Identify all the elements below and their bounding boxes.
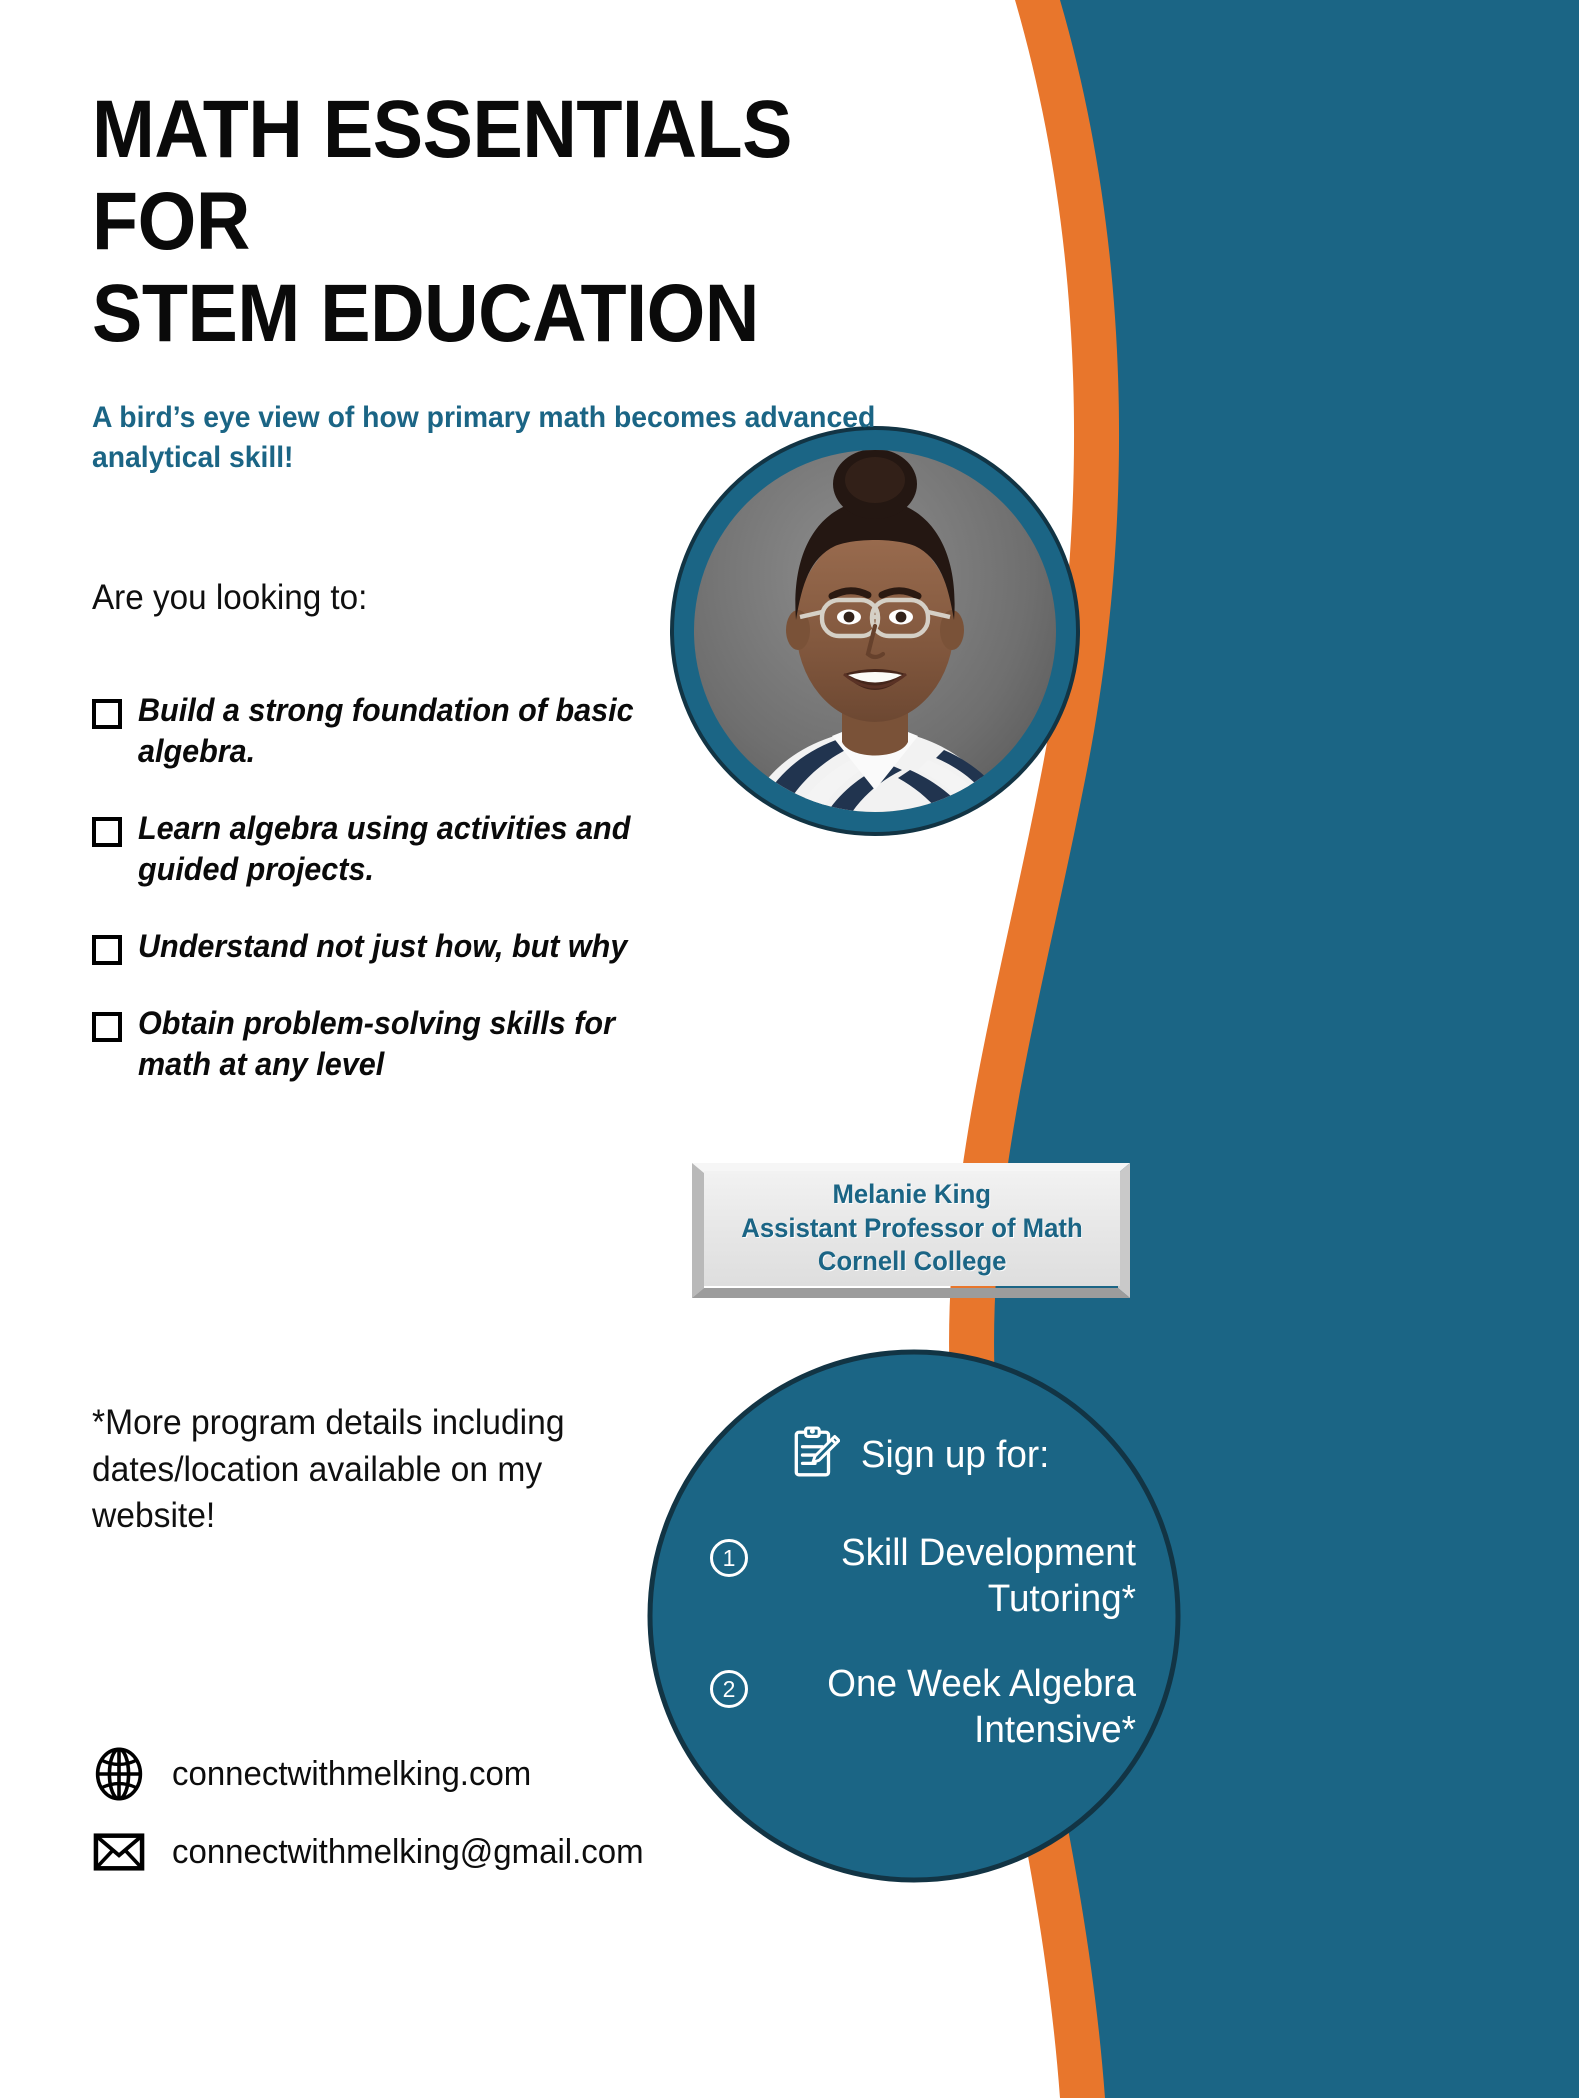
signup-option-label: One Week Algebra Intensive* <box>775 1662 1136 1753</box>
signup-option-1[interactable]: 1 Skill Development Tutoring* <box>686 1531 1156 1622</box>
presenter-institution: Cornell College <box>818 1245 1007 1278</box>
globe-icon <box>92 1747 146 1801</box>
checkbox-icon <box>92 817 122 847</box>
lead-in-text: Are you looking to: <box>92 578 367 618</box>
email-value: connectwithmelking@gmail.com <box>172 1833 644 1872</box>
list-item-label: Understand not just how, but why <box>138 926 678 967</box>
website-value: connectwithmelking.com <box>172 1755 531 1794</box>
list-item: Learn algebra using activities and guide… <box>92 808 712 890</box>
list-item-label: Learn algebra using activities and guide… <box>138 808 678 890</box>
signup-option-label: Skill Development Tutoring* <box>775 1531 1136 1622</box>
list-item: Understand not just how, but why <box>92 926 712 967</box>
program-note: *More program details including dates/lo… <box>92 1400 658 1540</box>
list-item: Obtain problem-solving skills for math a… <box>92 1003 712 1085</box>
checkbox-icon <box>92 935 122 965</box>
contact-block: connectwithmelking.com connectwithmelkin… <box>92 1735 658 1891</box>
signup-panel: Sign up for: 1 Skill Development Tutorin… <box>650 1352 1178 1880</box>
signup-heading-row: Sign up for: <box>790 1426 1052 1485</box>
envelope-icon <box>92 1825 146 1879</box>
signup-heading-label: Sign up for: <box>861 1434 1050 1477</box>
presenter-name: Melanie King <box>833 1178 992 1211</box>
page-title: MATH ESSENTIALS FOR STEM EDUCATION <box>92 84 938 359</box>
circled-number-icon: 2 <box>710 1670 748 1708</box>
contact-row-email[interactable]: connectwithmelking@gmail.com <box>92 1813 658 1891</box>
list-item-label: Obtain problem-solving skills for math a… <box>138 1003 678 1085</box>
checkbox-icon <box>92 1012 122 1042</box>
presenter-role: Assistant Professor of Math <box>741 1212 1082 1245</box>
flyer-page: MATH ESSENTIALS FOR STEM EDUCATION A bir… <box>0 0 1579 2098</box>
name-card-surface: Melanie King Assistant Professor of Math… <box>704 1171 1120 1286</box>
signup-option-2[interactable]: 2 One Week Algebra Intensive* <box>686 1662 1156 1753</box>
avatar <box>672 398 1078 864</box>
contact-row-website[interactable]: connectwithmelking.com <box>92 1735 658 1813</box>
title-line-1: MATH ESSENTIALS FOR <box>92 84 938 268</box>
title-line-2: STEM EDUCATION <box>92 268 938 360</box>
presenter-name-card: Melanie King Assistant Professor of Math… <box>692 1163 1130 1298</box>
circled-number-icon: 1 <box>710 1539 748 1577</box>
list-item-label: Build a strong foundation of basic algeb… <box>138 690 678 772</box>
benefits-checklist: Build a strong foundation of basic algeb… <box>92 690 712 1121</box>
checkbox-icon <box>92 699 122 729</box>
clipboard-pencil-icon <box>790 1426 840 1485</box>
list-item: Build a strong foundation of basic algeb… <box>92 690 712 772</box>
